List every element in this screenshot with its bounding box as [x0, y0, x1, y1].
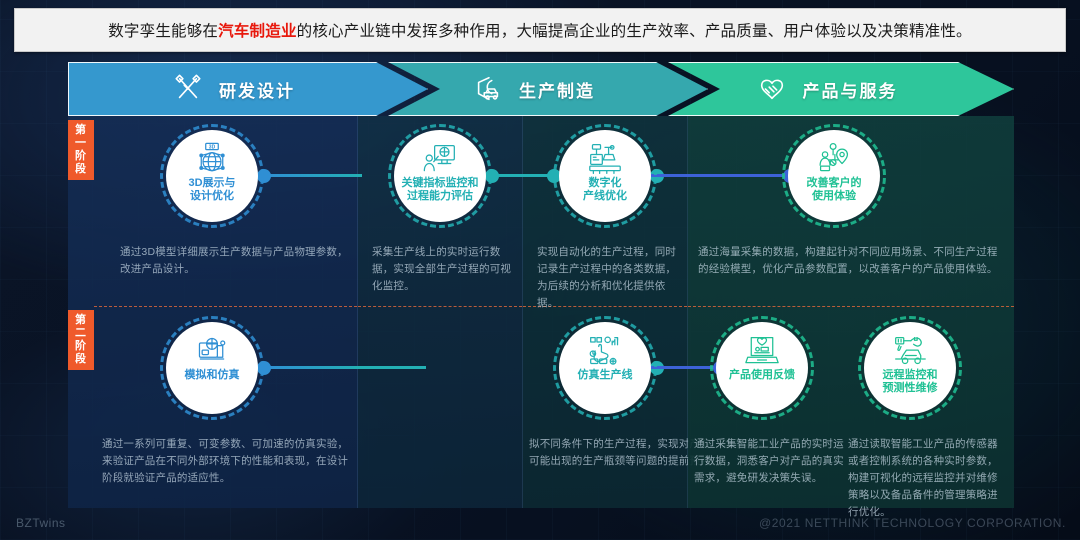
car-manufacturing-icon: [473, 74, 503, 104]
content-panels: 第 一 阶 段 第 二 阶 段 3D: [68, 116, 1014, 508]
header-text: 数字孪生能够在汽车制造业的核心产业链中发挥多种作用，大幅提高企业的生产效率、产品…: [108, 19, 972, 41]
badge2-ch3: 阶: [75, 340, 87, 353]
header-text-after: 的核心产业链中发挥多种作用，大幅提高企业的生产效率、产品质量、用户体验以及决策精…: [297, 23, 972, 40]
badge1-ch3: 阶: [75, 150, 87, 163]
node-label-customer-experience: 改善客户的 使用体验: [807, 177, 862, 203]
row-divider-p1: [94, 306, 357, 307]
node-product-feedback[interactable]: 产品使用反馈: [716, 322, 808, 414]
stage-badge-one: 第 一 阶 段: [68, 120, 94, 180]
production-line-icon: [587, 142, 623, 176]
row-divider-p2: [358, 306, 522, 307]
drafting-tools-icon: [173, 74, 203, 104]
process-arrow-band: 研发设计 生产制造: [68, 62, 1014, 116]
footer-copyright: @2021 NETTHINK TECHNOLOGY CORPORATION.: [759, 516, 1066, 530]
desc-product-feedback: 通过采集智能工业产品的实时运行数据，洞悉客户对产品的真实需求，避免研发决策失误。: [694, 436, 844, 487]
node-remote-maintenance[interactable]: 远程监控和 预测性维修: [864, 322, 956, 414]
connector-5-6-tail: [354, 366, 426, 369]
node-virtual-line[interactable]: 仿真生产线: [559, 322, 651, 414]
node-label-simulation: 模拟和仿真: [185, 369, 240, 382]
node-simulation[interactable]: 模拟和仿真: [166, 322, 258, 414]
header-banner: 数字孪生能够在汽车制造业的核心产业链中发挥多种作用，大幅提高企业的生产效率、产品…: [14, 8, 1066, 52]
node-label-virtual-line: 仿真生产线: [578, 369, 633, 382]
arrow-label-product-service: 产品与服务: [803, 77, 898, 102]
desc-digital-line: 实现自动化的生产过程，同时记录生产过程中的各类数据，为后续的分析和优化提供依据。: [537, 244, 679, 312]
customer-network-icon: [816, 142, 852, 176]
svg-text:3D: 3D: [209, 145, 216, 151]
badge1-ch4: 段: [75, 163, 87, 176]
header-highlight: 汽车制造业: [218, 23, 297, 40]
badge2-ch1: 第: [75, 314, 87, 327]
arrow-label-rd: 研发设计: [219, 77, 295, 102]
node-label-remote-maintenance: 远程监控和 预测性维修: [883, 369, 938, 395]
panel-service: 改善客户的 使用体验 通过海量采集的数据，构建起针对不同应用场景、不同生产过程的…: [688, 116, 1014, 508]
node-label-kpi-monitor: 关键指标监控和 过程能力评估: [402, 177, 479, 203]
connector-1-2: [264, 174, 362, 177]
arrow-segment-product-service[interactable]: 产品与服务: [668, 62, 1014, 116]
footer-brand: BZTwins: [16, 516, 66, 530]
car-maintenance-icon: [892, 334, 928, 368]
node-kpi-monitor[interactable]: 关键指标监控和 过程能力评估: [394, 130, 486, 222]
stage-badge-two: 第 二 阶 段: [68, 310, 94, 370]
virtual-line-icon: [587, 334, 623, 368]
panel-kpi: 关键指标监控和 过程能力评估 采集生产线上的实时运行数据，实现全部生产过程的可视…: [358, 116, 523, 508]
node-digital-line[interactable]: 数字化 产线优化: [559, 130, 651, 222]
node-label-digital-line: 数字化 产线优化: [583, 177, 627, 203]
3d-globe-icon: 3D: [194, 142, 230, 176]
node-label-product-feedback: 产品使用反馈: [729, 369, 795, 382]
badge2-ch2: 二: [75, 327, 87, 340]
connector-4-in: [644, 174, 790, 177]
arrow-label-manufacturing: 生产制造: [519, 77, 595, 102]
desc-simulation: 通过一系列可重复、可变参数、可加速的仿真实验，来验证产品在不同外部环境下的性能和…: [102, 436, 352, 487]
handshake-heart-icon: [757, 74, 787, 104]
desc-kpi-monitor: 采集生产线上的实时运行数据，实现全部生产过程的可视化监控。: [372, 244, 512, 295]
laptop-feedback-icon: [744, 334, 780, 368]
badge1-ch2: 一: [75, 137, 87, 150]
desc-3d-display: 通过3D模型详细展示生产数据与产品物理参数，改进产品设计。: [120, 244, 358, 278]
row-divider-p4: [688, 306, 1014, 307]
simulation-icon: [194, 334, 230, 368]
node-customer-experience[interactable]: 改善客户的 使用体验: [788, 130, 880, 222]
connector-2-3: [492, 174, 554, 177]
monitor-person-icon: [422, 142, 458, 176]
badge1-ch1: 第: [75, 124, 87, 137]
badge2-ch4: 段: [75, 353, 87, 366]
connector-5-6: [264, 366, 362, 369]
header-text-before: 数字孪生能够在: [108, 23, 218, 40]
node-3d-display[interactable]: 3D 3D展示与 设计优化: [166, 130, 258, 222]
desc-remote-maintenance: 通过读取智能工业产品的传感器或者控制系统的各种实时参数，构建可视化的远程监控并对…: [848, 436, 1008, 521]
node-label-3d-display: 3D展示与 设计优化: [188, 177, 235, 203]
desc-customer-experience: 通过海量采集的数据，构建起针对不同应用场景、不同生产过程的经验模型，优化产品参数…: [698, 244, 998, 278]
panel-rd: 第 一 阶 段 第 二 阶 段 3D: [68, 116, 358, 508]
